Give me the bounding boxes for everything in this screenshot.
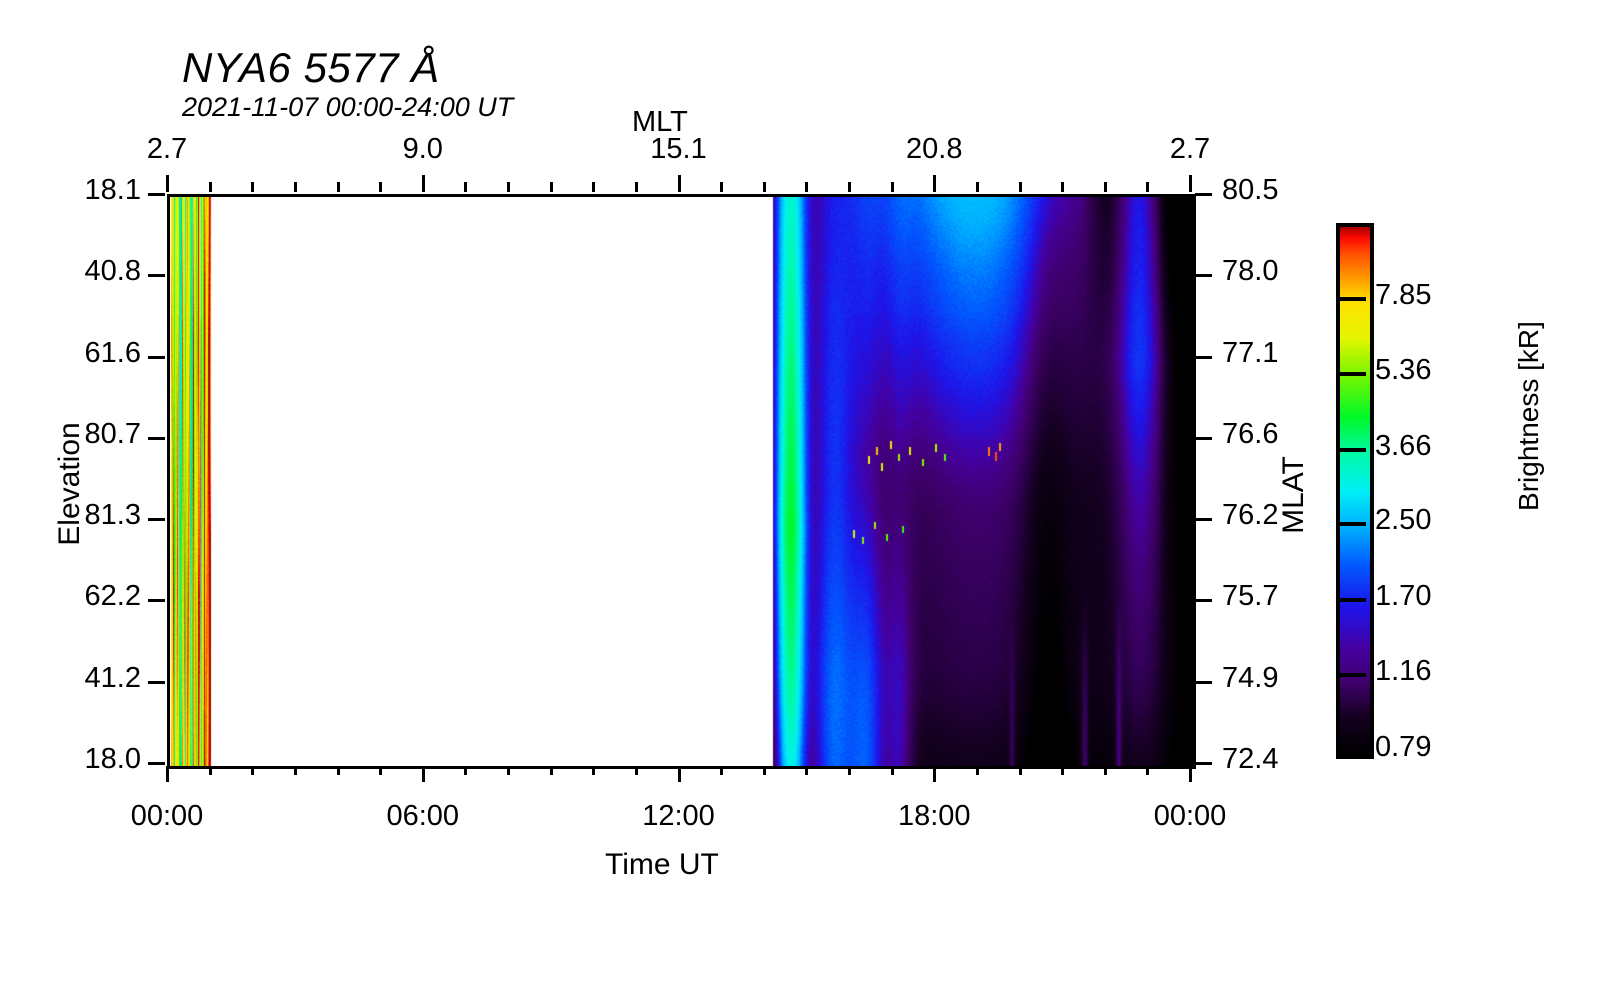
- colorbar-tick-label-0: 7.85: [1375, 279, 1431, 312]
- mlt-tick-minor-15: [805, 182, 808, 192]
- mlt-tick-major-3: [933, 175, 936, 192]
- mlt-tick-minor-11: [635, 182, 638, 192]
- colorbar-separator-3: [1336, 522, 1366, 526]
- colorbar-tick-label-1: 5.36: [1375, 354, 1431, 387]
- x-tick-minor-20: [1019, 766, 1022, 775]
- x-tick-minor-10: [592, 766, 595, 775]
- x-tick-minor-22: [1104, 766, 1107, 775]
- x-tick-minor-23: [1146, 766, 1149, 775]
- mlat-tick-4: [1195, 518, 1212, 521]
- x-tick-label-0: 00:00: [77, 800, 257, 833]
- elev-tick-2: [148, 356, 165, 359]
- colorbar-separator-1: [1336, 372, 1366, 376]
- x-tick-major-4: [1189, 766, 1192, 782]
- colorbar-separator-4: [1336, 598, 1366, 602]
- mlt-tick-minor-5: [379, 182, 382, 192]
- mlt-tick-minor-1: [209, 182, 212, 192]
- mlt-tick-minor-10: [592, 182, 595, 192]
- mlt-tick-label-4: 2.7: [1100, 133, 1280, 166]
- mlt-tick-minor-23: [1146, 182, 1149, 192]
- x-tick-major-0: [166, 766, 169, 782]
- elev-tick-label-6: 41.2: [0, 662, 141, 695]
- colorbar-separator-5: [1336, 673, 1366, 677]
- time-axis-title: Time UT: [605, 848, 719, 882]
- x-tick-major-3: [933, 766, 936, 782]
- mlat-tick-7: [1195, 762, 1212, 765]
- x-tick-minor-21: [1061, 766, 1064, 775]
- elev-tick-label-1: 40.8: [0, 255, 141, 288]
- mlt-tick-minor-17: [891, 182, 894, 192]
- mlat-tick-5: [1195, 599, 1212, 602]
- elev-tick-5: [148, 599, 165, 602]
- colorbar: [1336, 223, 1374, 759]
- mlat-tick-2: [1195, 356, 1212, 359]
- x-tick-label-2: 12:00: [589, 800, 769, 833]
- x-tick-minor-15: [805, 766, 808, 775]
- mlt-tick-minor-13: [720, 182, 723, 192]
- mlat-tick-1: [1195, 274, 1212, 277]
- elev-tick-6: [148, 681, 165, 684]
- x-tick-minor-8: [507, 766, 510, 775]
- mlt-tick-minor-14: [763, 182, 766, 192]
- mlt-tick-minor-4: [337, 182, 340, 192]
- mlt-tick-major-4: [1189, 175, 1192, 192]
- x-tick-minor-7: [464, 766, 467, 775]
- mlat-tick-0: [1195, 193, 1212, 196]
- mlt-tick-label-3: 20.8: [844, 133, 1024, 166]
- mlt-tick-minor-16: [848, 182, 851, 192]
- elev-tick-4: [148, 518, 165, 521]
- mlat-tick-label-0: 80.5: [1222, 174, 1422, 207]
- colorbar-separator-2: [1336, 448, 1366, 452]
- elev-tick-label-7: 18.0: [0, 743, 141, 776]
- x-tick-minor-14: [763, 766, 766, 775]
- keogram-plot-area: [167, 194, 1196, 769]
- mlt-tick-minor-2: [251, 182, 254, 192]
- x-tick-minor-17: [891, 766, 894, 775]
- colorbar-tick-label-2: 3.66: [1375, 430, 1431, 463]
- x-tick-label-4: 00:00: [1100, 800, 1280, 833]
- mlt-tick-major-2: [678, 175, 681, 192]
- x-tick-minor-4: [337, 766, 340, 775]
- page-subtitle: 2021-11-07 00:00-24:00 UT: [182, 92, 513, 123]
- colorbar-axis-title: Brightness [kR]: [1513, 266, 1545, 566]
- mlt-tick-minor-7: [464, 182, 467, 192]
- mlt-tick-minor-19: [976, 182, 979, 192]
- mlt-tick-major-0: [166, 175, 169, 192]
- x-tick-minor-11: [635, 766, 638, 775]
- x-tick-label-1: 06:00: [333, 800, 513, 833]
- elev-tick-7: [148, 762, 165, 765]
- mlt-tick-minor-8: [507, 182, 510, 192]
- mlt-tick-major-1: [422, 175, 425, 192]
- x-tick-major-2: [678, 766, 681, 782]
- mlt-tick-minor-21: [1061, 182, 1064, 192]
- elev-tick-0: [148, 193, 165, 196]
- colorbar-tick-label-3: 2.50: [1375, 504, 1431, 537]
- elev-tick-label-0: 18.1: [0, 174, 141, 207]
- x-tick-minor-13: [720, 766, 723, 775]
- elev-tick-label-2: 61.6: [0, 337, 141, 370]
- x-tick-minor-19: [976, 766, 979, 775]
- page-title: NYA6 5577 Å: [182, 44, 440, 92]
- colorbar-tick-label-5: 1.16: [1375, 655, 1431, 688]
- colorbar-tick-label-4: 1.70: [1375, 580, 1431, 613]
- x-tick-label-3: 18:00: [844, 800, 1024, 833]
- x-tick-minor-3: [294, 766, 297, 775]
- elev-tick-1: [148, 274, 165, 277]
- colorbar-separator-0: [1336, 297, 1366, 301]
- keogram-image: [170, 197, 1193, 766]
- elev-tick-label-5: 62.2: [0, 580, 141, 613]
- elev-tick-label-4: 81.3: [0, 499, 141, 532]
- x-tick-minor-9: [550, 766, 553, 775]
- mlt-tick-label-1: 9.0: [333, 133, 513, 166]
- x-tick-major-1: [422, 766, 425, 782]
- mlt-tick-label-0: 2.7: [77, 133, 257, 166]
- mlt-tick-minor-22: [1104, 182, 1107, 192]
- mlat-tick-6: [1195, 681, 1212, 684]
- x-tick-minor-16: [848, 766, 851, 775]
- mlt-tick-minor-9: [550, 182, 553, 192]
- elev-tick-3: [148, 437, 165, 440]
- mlat-tick-3: [1195, 437, 1212, 440]
- x-tick-minor-5: [379, 766, 382, 775]
- mlt-tick-minor-3: [294, 182, 297, 192]
- mlt-tick-minor-20: [1019, 182, 1022, 192]
- colorbar-tick-label-6: 0.79: [1375, 731, 1431, 764]
- mlt-tick-label-2: 15.1: [589, 133, 769, 166]
- elev-tick-label-3: 80.7: [0, 418, 141, 451]
- x-tick-minor-1: [209, 766, 212, 775]
- x-tick-minor-2: [251, 766, 254, 775]
